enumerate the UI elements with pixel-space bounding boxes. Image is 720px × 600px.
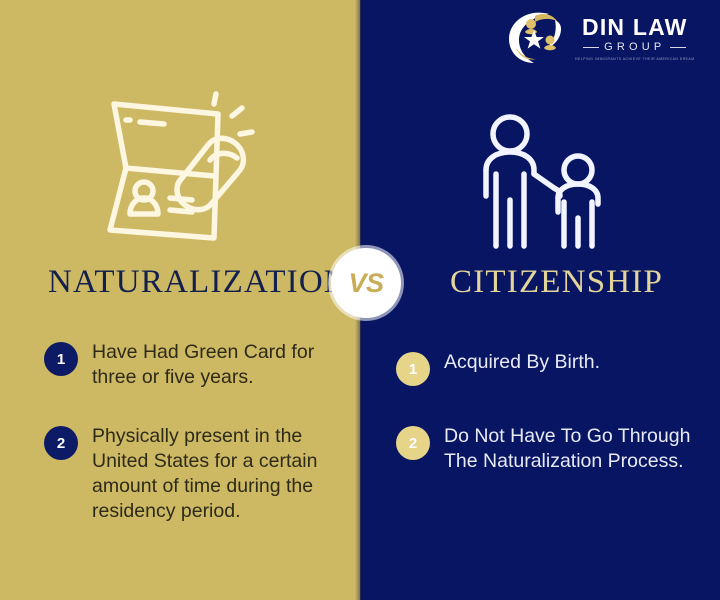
certificate-with-stamp-icon xyxy=(92,86,272,254)
versus-label: VS xyxy=(348,268,383,299)
brand-subtitle: GROUP xyxy=(604,42,665,53)
brand-tagline: HELPING IMMIGRANTS ACHIEVE THEIR AMERICA… xyxy=(575,56,695,60)
citizenship-heading: CITIZENSHIP xyxy=(450,264,663,301)
list-number-badge: 1 xyxy=(44,342,78,376)
list-number-badge: 2 xyxy=(44,426,78,460)
brand-subtitle-row: GROUP xyxy=(575,42,695,53)
parent-and-child-icon xyxy=(468,112,618,256)
din-law-group-crescent-star-logo xyxy=(505,8,567,66)
brand-rule-left xyxy=(583,47,599,48)
list-number-badge: 2 xyxy=(396,426,430,460)
brand-wordmark: DIN LAW GROUP HELPING IMMIGRANTS ACHIEVE… xyxy=(575,14,695,61)
list-number-badge: 1 xyxy=(396,352,430,386)
list-item-text: Do Not Have To Go Through The Naturaliza… xyxy=(444,424,696,474)
naturalization-heading: NATURALIZATION xyxy=(48,264,349,301)
list-item-text: Physically present in the United States … xyxy=(92,424,344,524)
infographic-canvas: DIN LAW GROUP HELPING IMMIGRANTS ACHIEVE… xyxy=(0,0,720,600)
brand-logo[interactable]: DIN LAW GROUP HELPING IMMIGRANTS ACHIEVE… xyxy=(505,6,705,68)
brand-title: DIN LAW xyxy=(582,16,688,39)
list-item: 1 Acquired By Birth. xyxy=(396,350,696,386)
list-item-text: Acquired By Birth. xyxy=(444,350,600,375)
list-item: 2 Physically present in the United State… xyxy=(44,424,344,524)
versus-badge: VS xyxy=(331,248,401,318)
brand-rule-right xyxy=(670,47,686,48)
list-item: 2 Do Not Have To Go Through The Naturali… xyxy=(396,424,696,474)
list-item-text: Have Had Green Card for three or five ye… xyxy=(92,340,344,390)
list-item: 1 Have Had Green Card for three or five … xyxy=(44,340,344,390)
